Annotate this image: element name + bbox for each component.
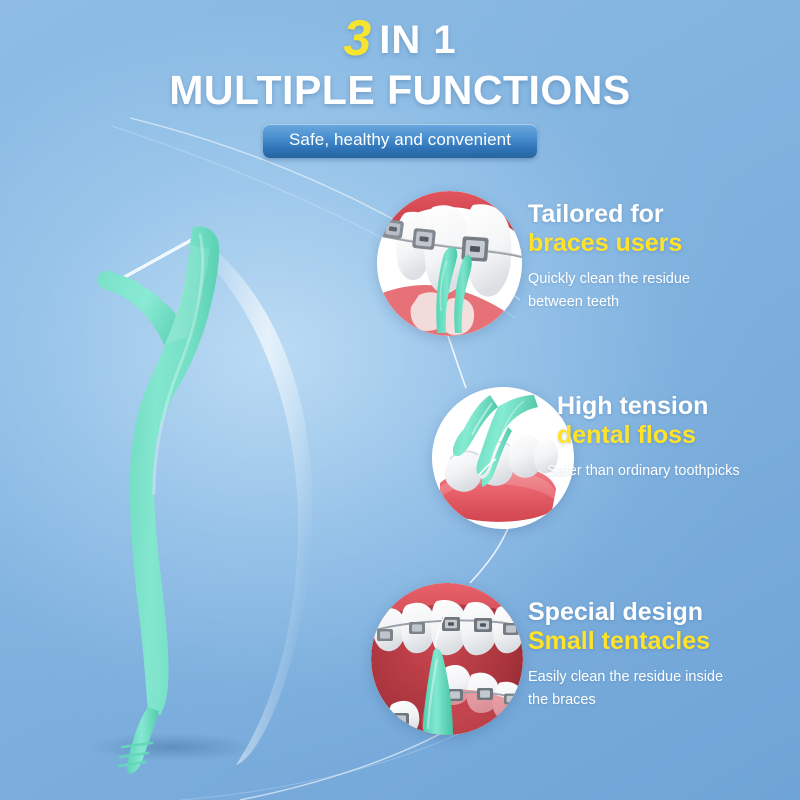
title-line-one: 3IN 1 [0,13,800,63]
feature-3-title: Special design [528,598,723,627]
headline-in-one: IN 1 [379,18,456,62]
feature-3-desc-line-2: the braces [528,689,723,712]
feature-block-1: Tailored for braces users Quickly clean … [528,200,690,314]
feature-2-description: Safer than ordinary toothpicks [547,460,740,483]
header: 3IN 1 MULTIPLE FUNCTIONS Safe, healthy a… [0,0,800,158]
feature-image-1 [377,191,522,336]
feature-3-description: Easily clean the residue inside the brac… [528,666,723,713]
product-image [60,205,360,765]
feature-1-subtitle: braces users [528,229,690,258]
product-glow-arc [200,245,313,765]
feature-block-3: Special design Small tentacles Easily cl… [528,598,723,712]
feature-3-desc-line-1: Easily clean the residue inside [528,666,723,689]
feature-block-2: High tension dental floss Safer than ord… [557,392,740,483]
feature-2-subtitle: dental floss [557,421,740,450]
feature-2-title: High tension [557,392,740,421]
feature-2-desc-line-1: Safer than ordinary toothpicks [547,460,740,483]
feature-1-desc-line-1: Quickly clean the residue [528,268,690,291]
feature-1-desc-line-2: between teeth [528,291,690,314]
feature-image-2 [432,387,574,529]
page-title: MULTIPLE FUNCTIONS [0,70,800,111]
feature-image-3 [371,583,523,735]
headline-number: 3 [343,10,370,66]
feature-1-title: Tailored for [528,200,690,229]
feature-3-subtitle: Small tentacles [528,627,723,656]
infographic-poster: 3IN 1 MULTIPLE FUNCTIONS Safe, healthy a… [0,0,800,800]
product-shadow [88,733,256,761]
feature-1-description: Quickly clean the residue between teeth [528,268,690,315]
tagline-badge: Safe, healthy and convenient [263,124,537,158]
